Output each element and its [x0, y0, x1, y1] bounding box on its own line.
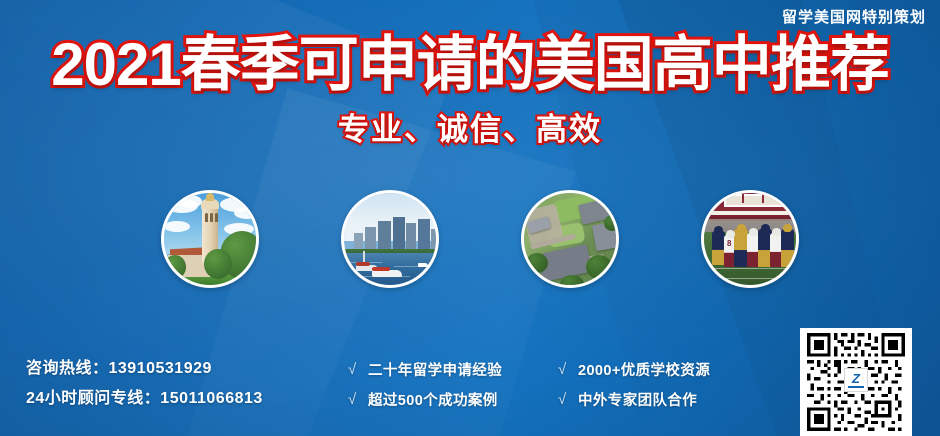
logo-bar [848, 386, 864, 388]
check-icon: √ [348, 391, 368, 408]
feature-item-2: √ 2000+优质学校资源 [558, 359, 778, 380]
feature-item-3: √ 超过500个成功案例 [348, 389, 558, 410]
page-subtitle: 专业、诚信、高效 [0, 113, 940, 147]
contact-block: 咨询热线：13910531929 24小时顾问专线：15011066813 [26, 354, 263, 414]
feature-label: 2000+优质学校资源 [578, 359, 710, 380]
qr-center-logo: Z [844, 368, 868, 392]
hotline-line: 咨询热线：13910531929 [26, 354, 263, 384]
city-river-photo [341, 190, 439, 288]
feature-list: √ 二十年留学申请经验 √ 2000+优质学校资源 √ 超过500个成功案例 √… [348, 354, 778, 414]
feature-item-4: √ 中外专家团队合作 [558, 389, 778, 410]
feature-item-1: √ 二十年留学申请经验 [348, 359, 558, 380]
photo-strip: 8 [0, 190, 940, 290]
logo-letter: Z [852, 372, 860, 385]
football-game-photo: 8 [701, 190, 799, 288]
page-title: 2021春季可申请的美国高中推荐 [0, 33, 940, 98]
check-icon: √ [558, 361, 578, 378]
jersey-number: 8 [727, 240, 731, 248]
promo-banner: 留学美国网特别策划 2021春季可申请的美国高中推荐 专业、诚信、高效 [0, 0, 940, 436]
feature-label: 二十年留学申请经验 [368, 359, 502, 380]
aerial-campus-photo [521, 190, 619, 288]
check-icon: √ [558, 391, 578, 408]
campus-tower-photo [161, 190, 259, 288]
check-icon: √ [348, 361, 368, 378]
qr-code[interactable]: Z [800, 328, 912, 436]
brand-kicker: 留学美国网特别策划 [782, 6, 926, 27]
feature-label: 超过500个成功案例 [368, 389, 498, 410]
service-line: 24小时顾问专线：15011066813 [26, 384, 263, 414]
feature-label: 中外专家团队合作 [578, 389, 697, 410]
